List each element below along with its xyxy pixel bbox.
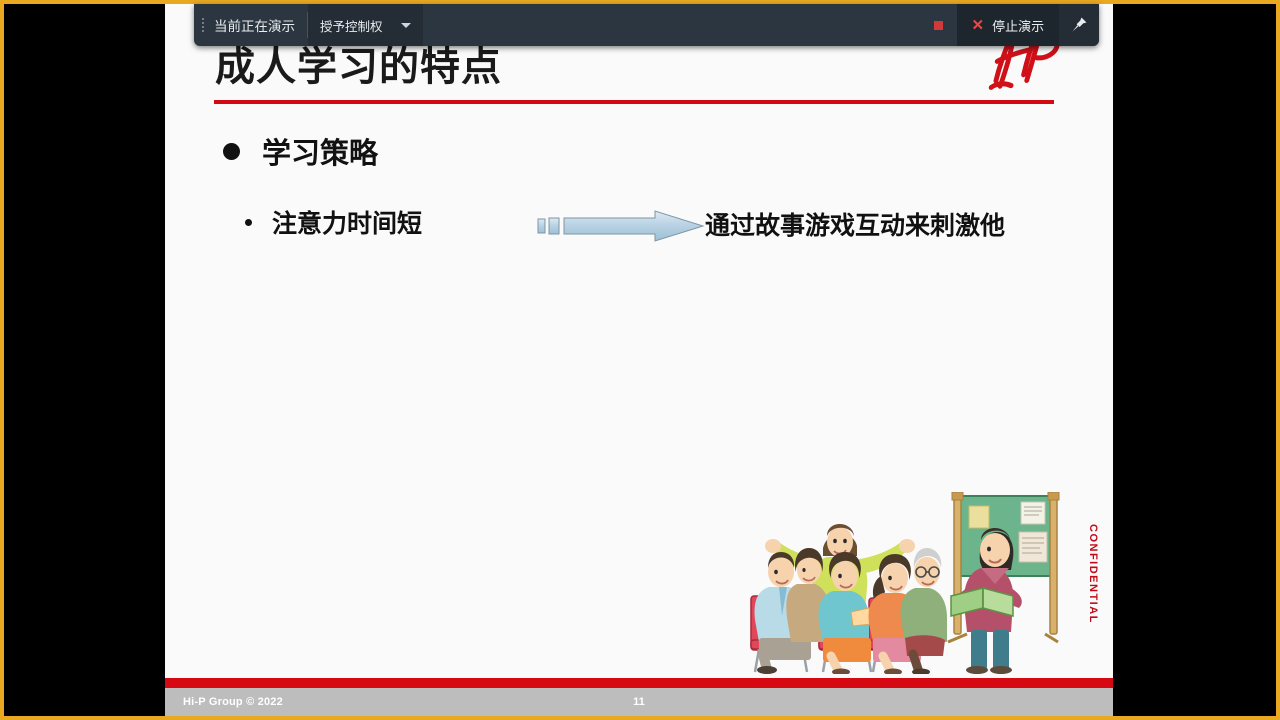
training-audience-presenter-illustration bbox=[745, 492, 1065, 674]
bullet-level2-text: 注意力时间短 bbox=[272, 204, 422, 240]
bullet-level2: 注意力时间短 bbox=[245, 204, 422, 240]
arrow-result-text: 通过故事游戏互动来刺激他 bbox=[705, 206, 1005, 242]
bullet-level1-text: 学习策略 bbox=[262, 130, 378, 172]
toolbar-spacer bbox=[423, 4, 921, 46]
drag-grip-icon[interactable] bbox=[194, 4, 212, 46]
bullet-dot-icon bbox=[223, 143, 240, 160]
bullet-level1: 学习策略 bbox=[223, 130, 378, 172]
grant-control-button[interactable]: 授予控制权 bbox=[308, 4, 423, 46]
shared-screen: 成人学习的特点 学习策略 注意力时间短 bbox=[0, 0, 1280, 720]
right-arrow-graphic bbox=[537, 210, 705, 242]
x-icon: ✕ bbox=[972, 18, 985, 33]
pin-toolbar-button[interactable] bbox=[1059, 4, 1099, 46]
slide-footer: Hi-P Group © 2022 11 bbox=[165, 688, 1113, 716]
recording-indicator-button[interactable] bbox=[921, 4, 957, 46]
presentation-slide: 成人学习的特点 学习策略 注意力时间短 bbox=[165, 4, 1113, 716]
pin-icon bbox=[1070, 16, 1088, 34]
presentation-control-toolbar[interactable]: 当前正在演示 授予控制权 ✕ 停止演示 bbox=[194, 4, 1099, 46]
presenting-status-label: 当前正在演示 bbox=[212, 4, 307, 46]
chevron-down-icon[interactable] bbox=[401, 23, 411, 28]
footer-red-bar bbox=[165, 678, 1113, 688]
bullet-dot-small-icon bbox=[245, 219, 252, 226]
grant-control-label: 授予控制权 bbox=[320, 16, 383, 35]
record-stop-square-icon bbox=[934, 21, 943, 30]
stop-presenting-button[interactable]: ✕ 停止演示 bbox=[957, 4, 1060, 46]
slide-page-number: 11 bbox=[165, 696, 1113, 708]
stop-presenting-label: 停止演示 bbox=[992, 16, 1044, 35]
title-underline-rule bbox=[214, 100, 1054, 104]
confidential-watermark: CONFIDENTIAL bbox=[1087, 524, 1099, 624]
